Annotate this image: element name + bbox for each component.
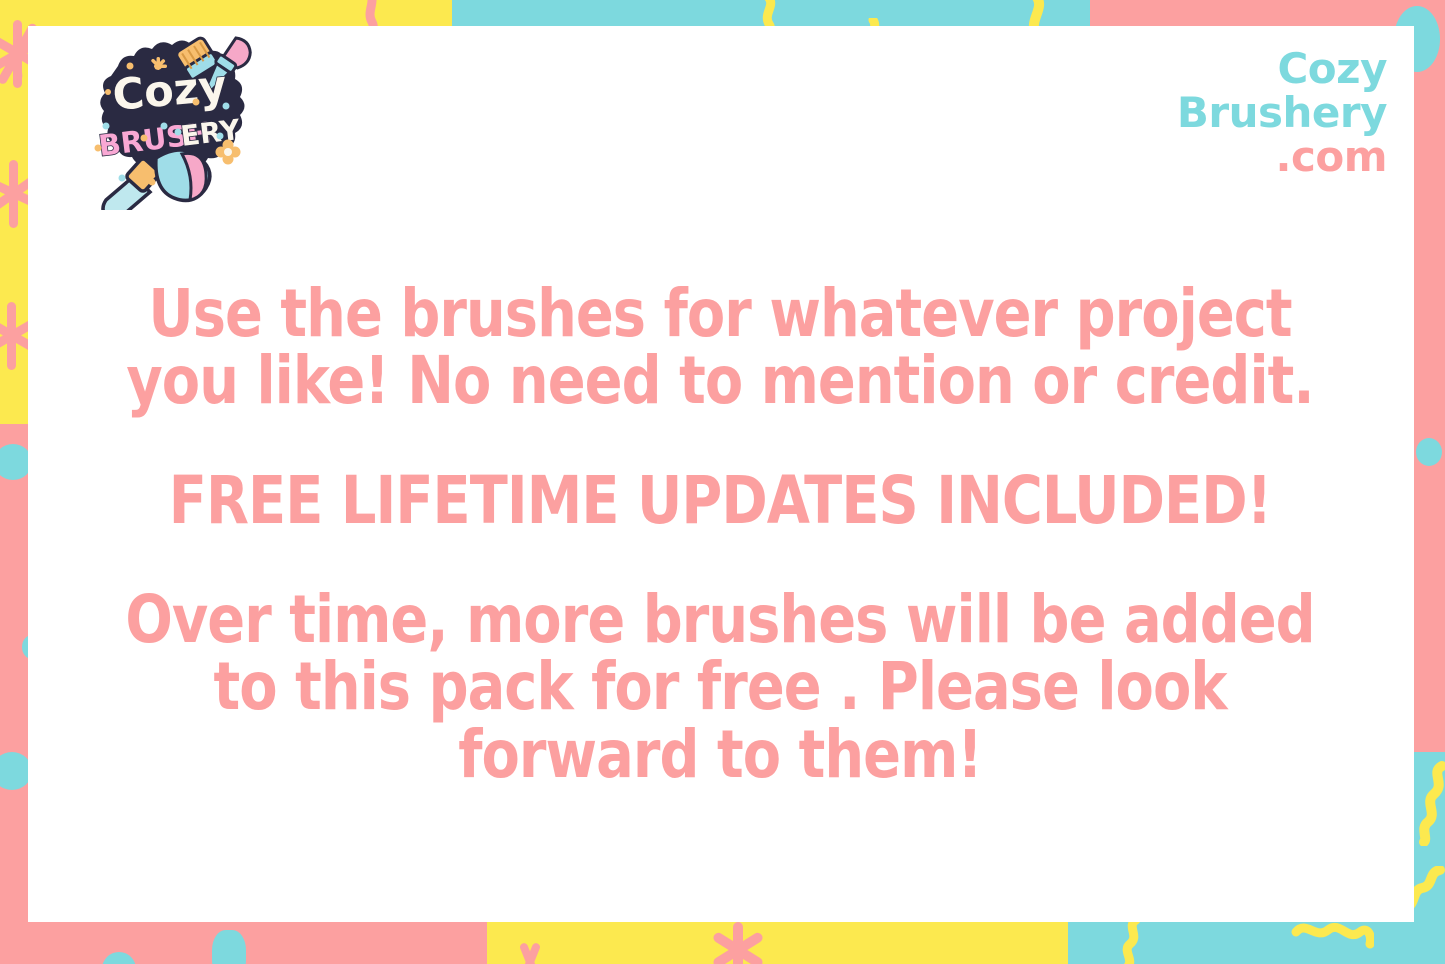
starburst-icon	[700, 918, 776, 964]
squiggle-icon	[1290, 918, 1374, 964]
paragraph-free-updates: FREE LIFETIME UPDATES INCLUDED!	[100, 467, 1341, 534]
brand-line-dotcom: .com	[1177, 136, 1387, 178]
brand-line-cozy: Cozy	[1177, 48, 1387, 90]
body-copy: Use the brushes for whatever project you…	[60, 280, 1380, 788]
brand-wordmark: Cozy Brushery .com	[1177, 48, 1387, 178]
squiggle-icon	[4, 42, 30, 82]
paragraph-future-brushes: Over time, more brushes will be added to…	[100, 586, 1341, 788]
border-band-right-pink	[1413, 0, 1445, 760]
squiggle-icon	[1112, 918, 1152, 964]
brand-line-brushery: Brushery	[1177, 92, 1387, 134]
starburst-icon	[508, 940, 552, 964]
cozy-brushery-logo: Cozy BRUSH ERY	[78, 30, 258, 210]
dot-icon	[212, 930, 246, 964]
poster-canvas: Cozy BRUSH ERY	[0, 0, 1445, 964]
svg-text:Cozy: Cozy	[111, 61, 229, 121]
paragraph-usage-rights: Use the brushes for whatever project you…	[100, 280, 1341, 415]
dot-icon	[1416, 438, 1442, 466]
squiggle-icon	[1402, 925, 1445, 964]
border-band-bottom-yellow	[487, 922, 1068, 964]
